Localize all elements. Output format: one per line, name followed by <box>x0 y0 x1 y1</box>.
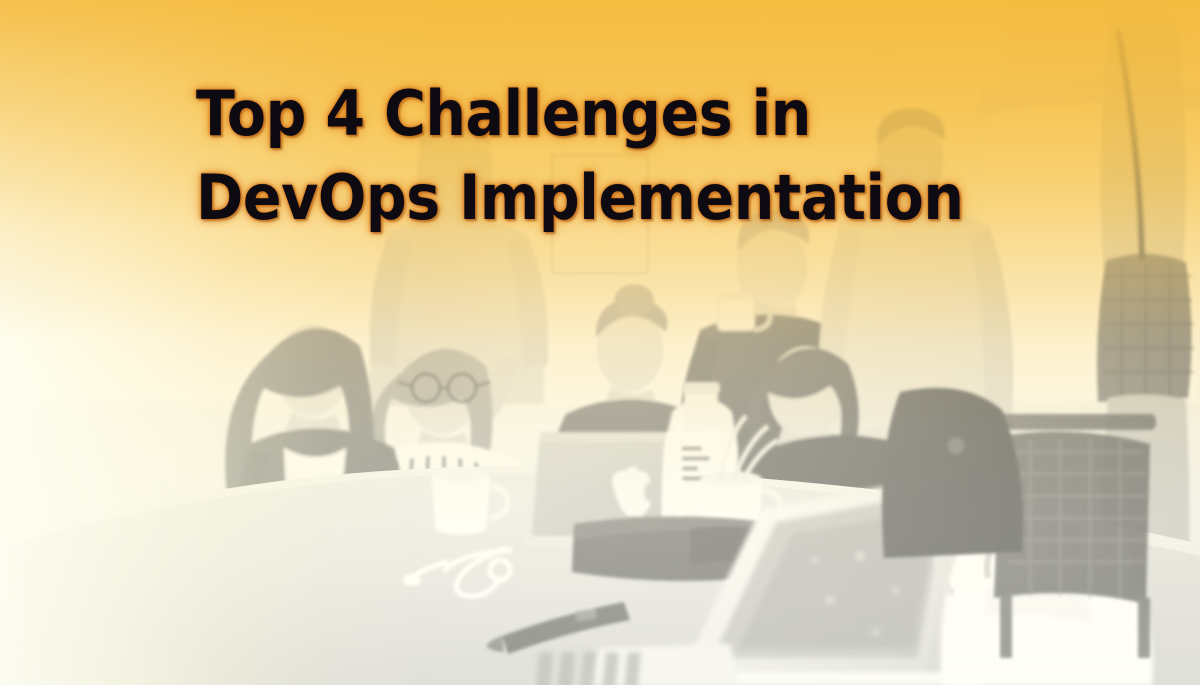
headline-line-2: DevOps Implementation <box>196 156 950 240</box>
article-hero-banner: Top 4 Challenges in DevOps Implementatio… <box>0 0 1200 685</box>
headline-line-1: Top 4 Challenges in <box>196 72 950 156</box>
banner-headline: Top 4 Challenges in DevOps Implementatio… <box>196 72 1016 240</box>
